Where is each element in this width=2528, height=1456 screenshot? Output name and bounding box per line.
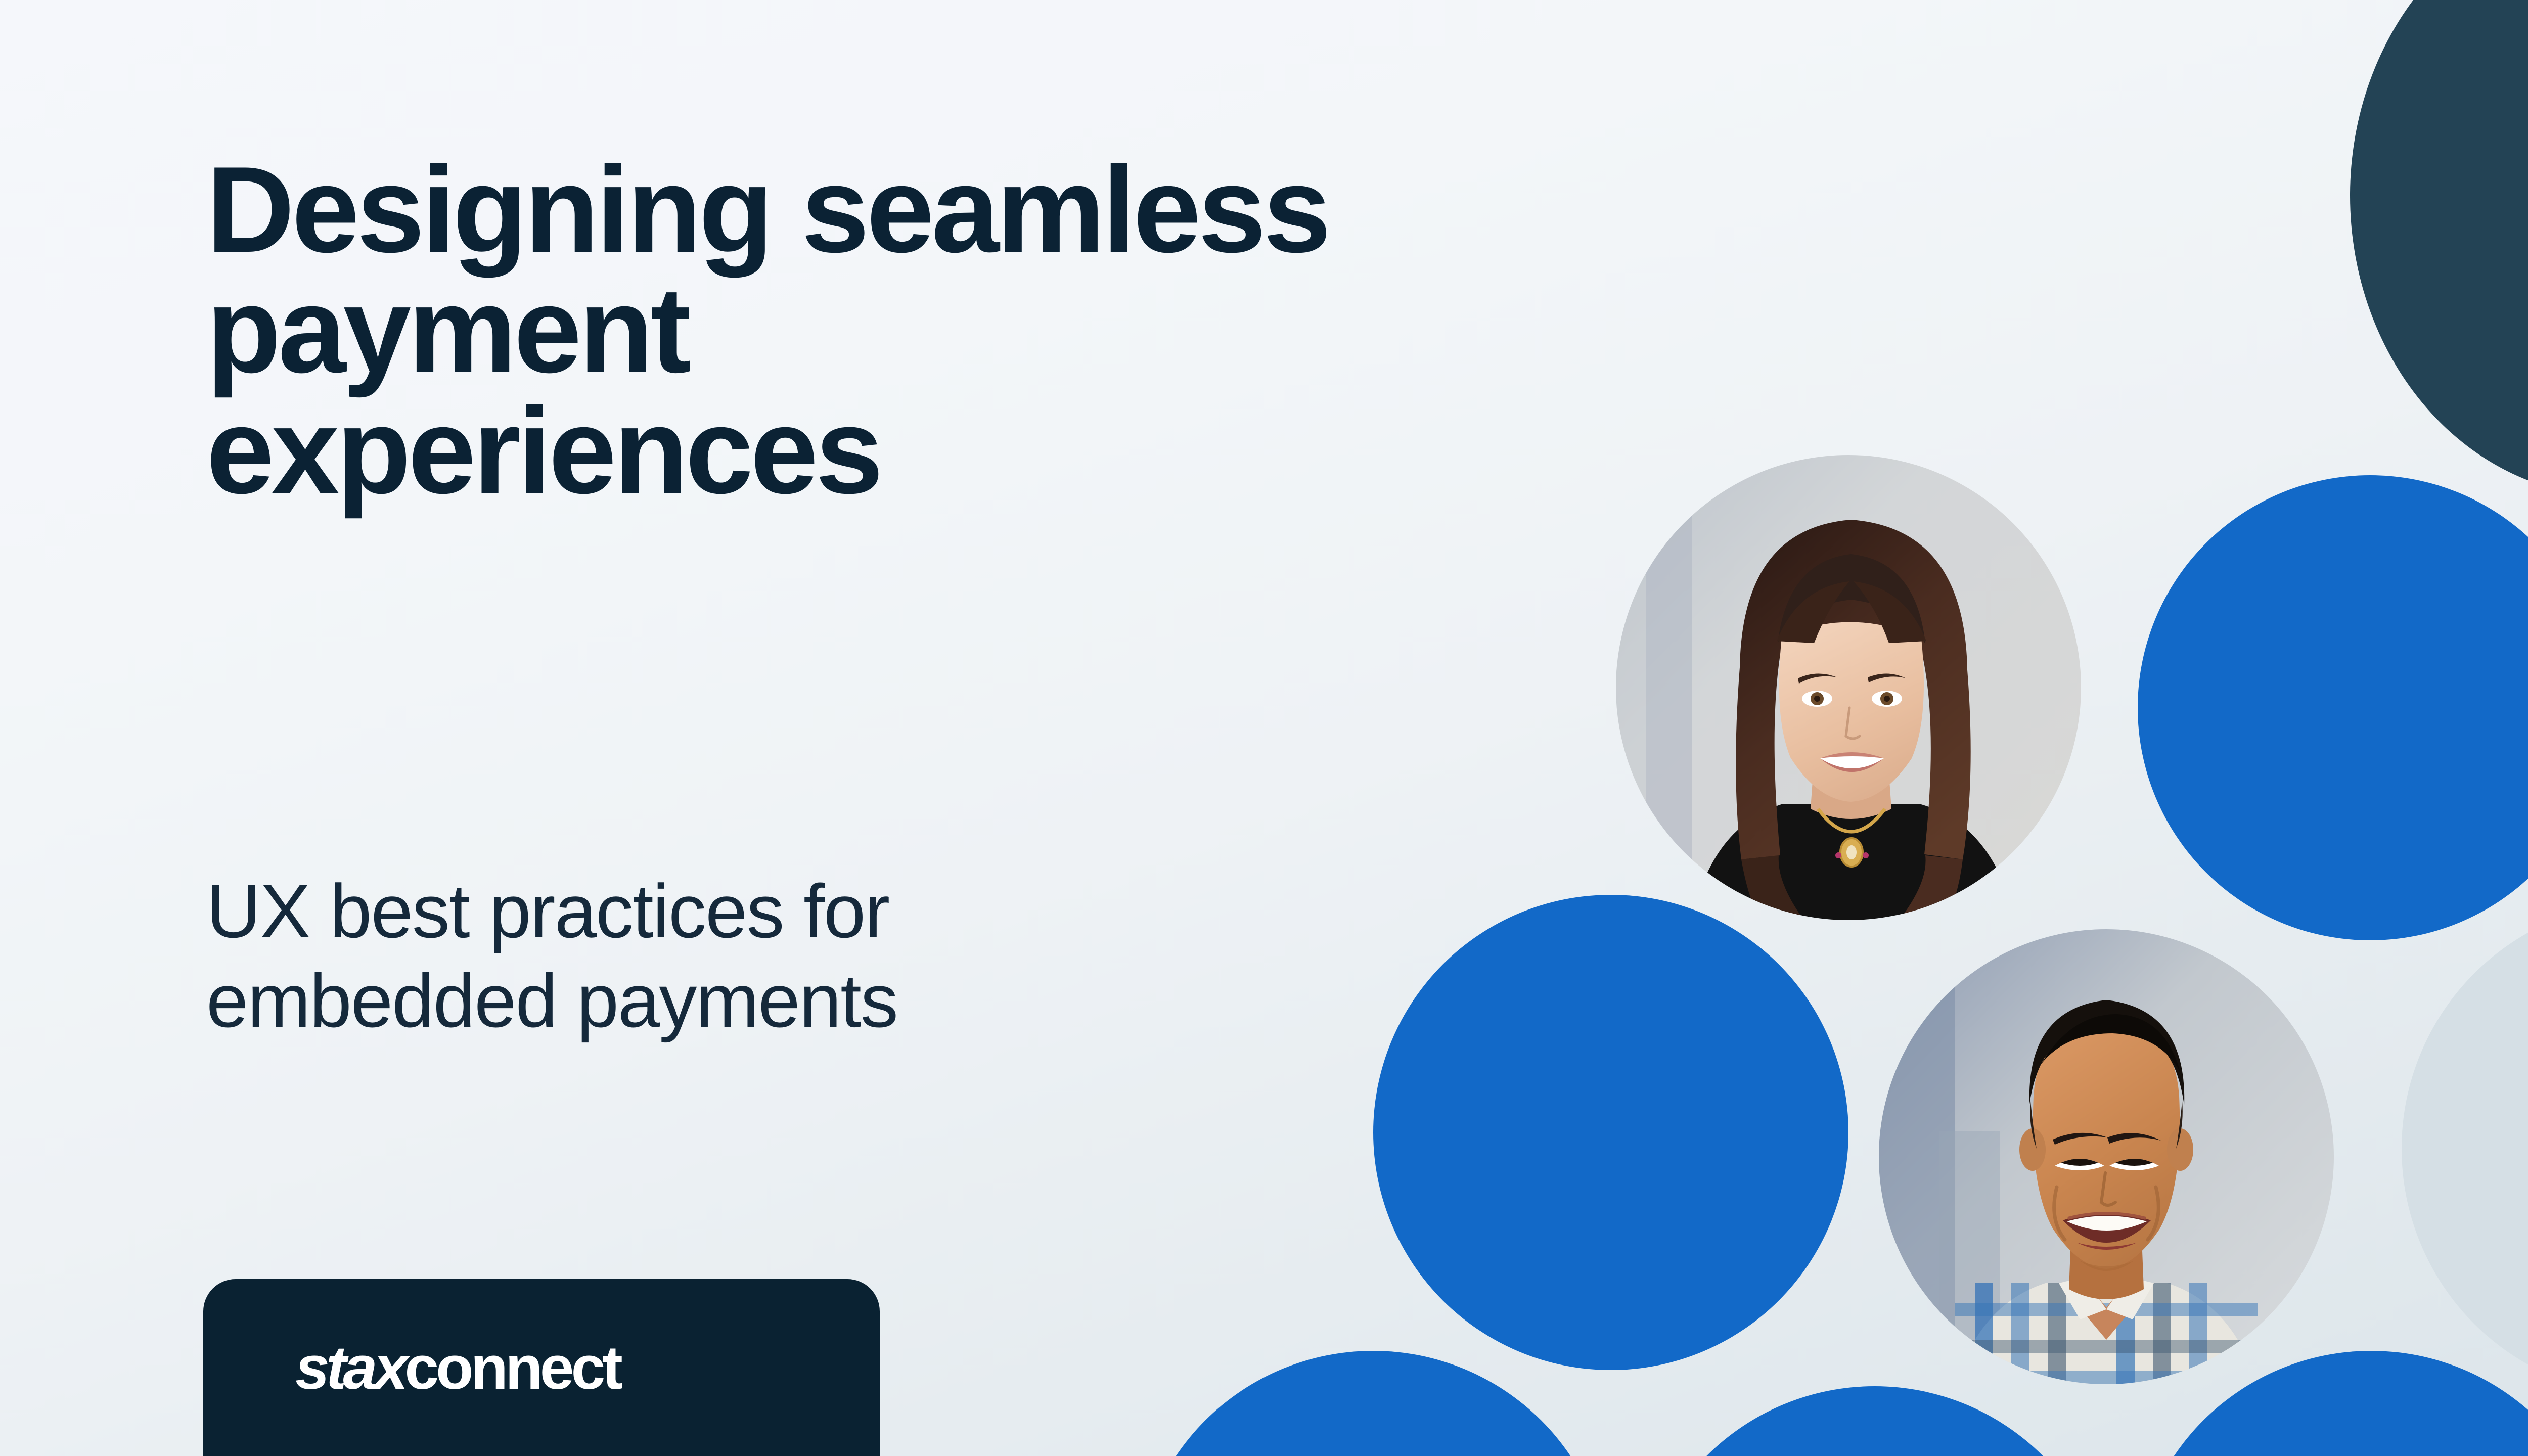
blue-circle-top-right xyxy=(2138,475,2528,940)
blue-circle-bottom-center xyxy=(1637,1386,2112,1456)
pale-circle-right xyxy=(2402,901,2528,1396)
dark-teal-circle-top-right xyxy=(2350,0,2528,496)
logo-stax-text: stax xyxy=(295,1333,404,1402)
logo-connect-text: connect xyxy=(404,1333,620,1402)
avatar-man-photo xyxy=(1879,929,2334,1384)
page-subtitle: UX best practices for embedded payments xyxy=(206,867,897,1045)
avatar-woman-photo xyxy=(1616,455,2081,920)
logo-wordmark: staxconnect xyxy=(295,1337,620,1398)
marketing-banner: Designing seamless payment experiences U… xyxy=(0,0,2528,1456)
page-title: Designing seamless payment experiences xyxy=(206,150,1328,511)
avatar-woman xyxy=(1616,455,2081,920)
logo-badge: staxconnect xyxy=(203,1279,880,1456)
banner-content: Designing seamless payment experiences U… xyxy=(206,0,1602,1456)
avatar-man xyxy=(1879,929,2334,1384)
